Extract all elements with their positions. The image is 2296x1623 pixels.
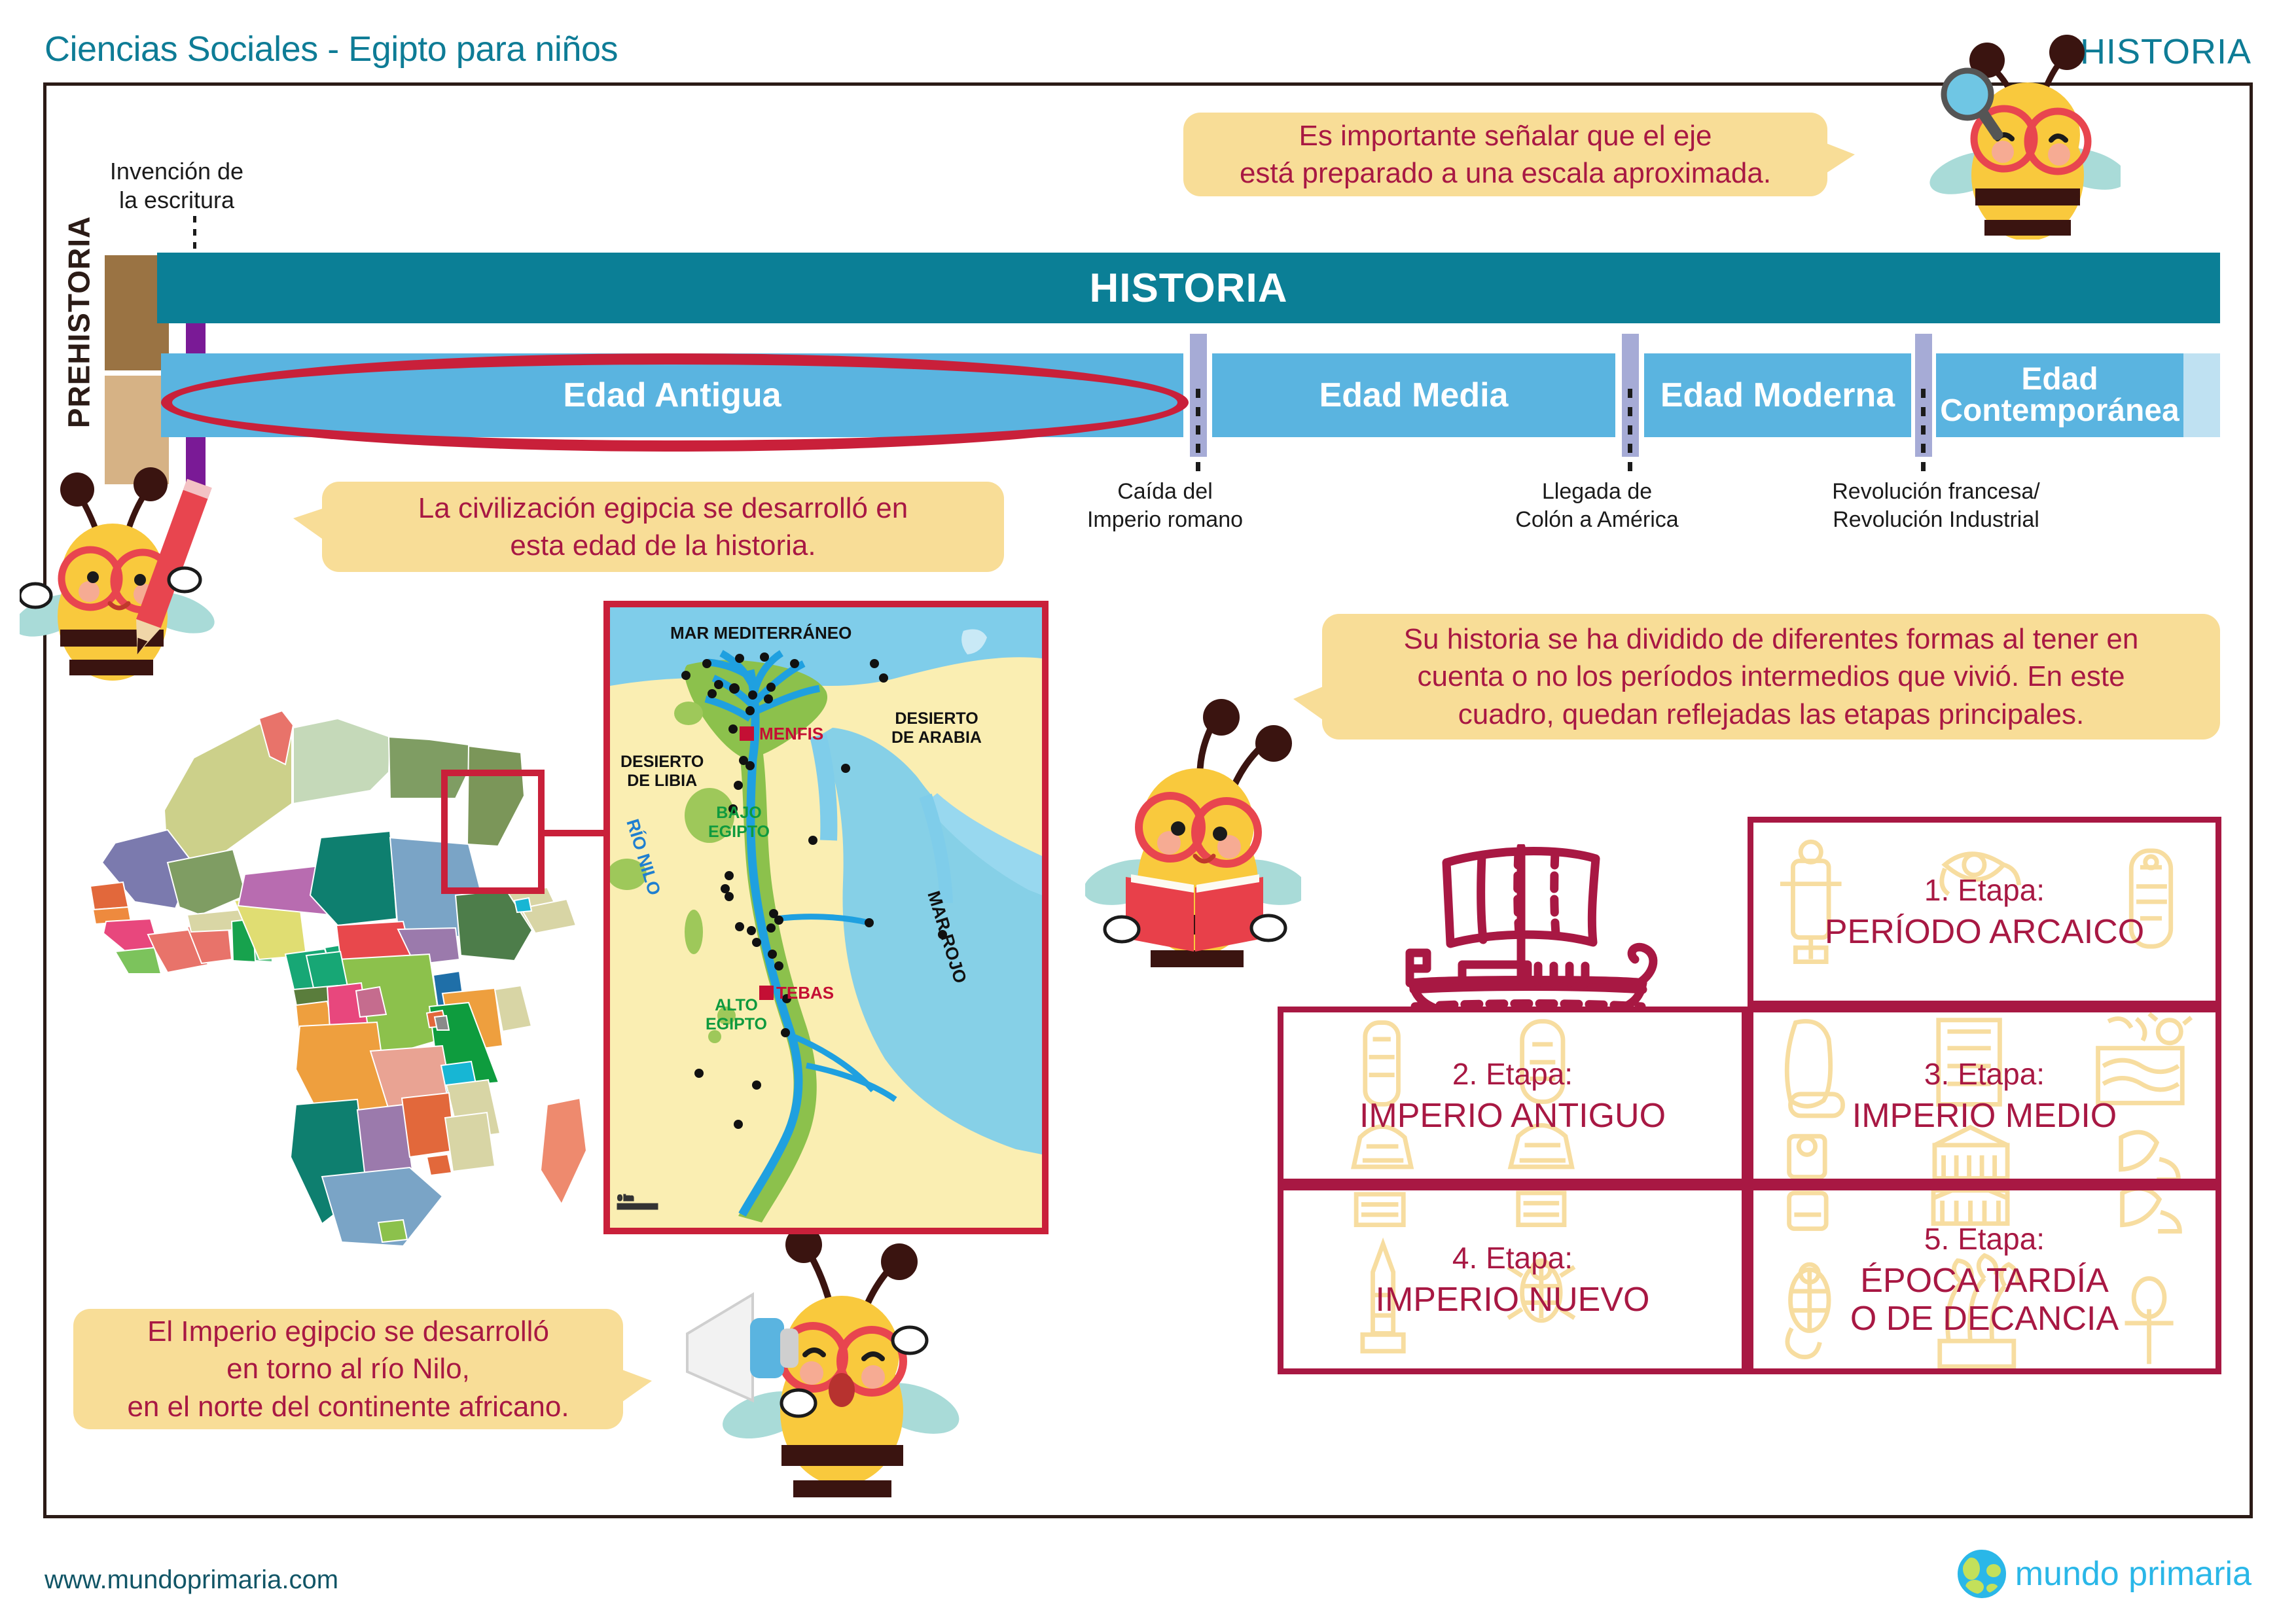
bubble-line2: esta edad de la historia. <box>418 527 908 564</box>
stage-name-line2: O DE DECANCIA <box>1850 1300 2119 1338</box>
bubble-divisions: Su historia se ha dividido de diferentes… <box>1322 614 2220 740</box>
map-label-bajo-egipto: BAJO EGIPTO <box>708 804 770 842</box>
bubble-line1: El Imperio egipcio se desarrolló <box>127 1313 569 1350</box>
era-edad-moderna: Edad Moderna <box>1644 353 1911 437</box>
bubble-line1: La civilización egipcia se desarrolló en <box>418 490 908 527</box>
stage-name-label: IMPERIO ANTIGUO <box>1359 1097 1666 1135</box>
history-bar-label: HISTORIA <box>1089 265 1287 312</box>
event-label-caida-imperio-romano: Caída del Imperio romano <box>1047 478 1283 533</box>
stage-number-label: 3. Etapa: <box>1924 1056 2045 1092</box>
bubble-tail <box>620 1369 652 1403</box>
footer-url[interactable]: www.mundoprimaria.com <box>45 1565 338 1595</box>
bubble-line2: está preparado a una escala aproximada. <box>1240 154 1771 192</box>
stage-card-2[interactable]: 2. Etapa: IMPERIO ANTIGUO <box>1278 1007 1748 1185</box>
event-line1: Caída del <box>1047 478 1283 506</box>
bee-with-megaphone-icon <box>682 1212 963 1500</box>
map-city-menfis: MENFIS <box>759 724 823 744</box>
event-label-revolucion: Revolución francesa/ Revolución Industri… <box>1788 478 2084 533</box>
bee-reading-book-icon <box>1085 686 1301 993</box>
era-future-tail <box>2183 353 2220 437</box>
map-key-tebas <box>759 986 774 1000</box>
stage-number-label: 1. Etapa: <box>1924 872 2045 908</box>
era-divider-2 <box>1622 334 1639 457</box>
map-label-arabian-desert: DESIERTO DE ARABIA <box>891 709 982 747</box>
stage-name-label: PERÍODO ARCAICO <box>1825 913 2144 951</box>
bubble-line2: en torno al río Nilo, <box>127 1350 569 1387</box>
era-edad-media: Edad Media <box>1212 353 1615 437</box>
bubble-line1: Su historia se ha dividido de diferentes… <box>1404 620 2139 658</box>
writing-event-line2: la escritura <box>79 186 275 215</box>
writing-event-connector <box>193 216 196 257</box>
stage-cell-ship-illustration <box>1278 817 1748 1007</box>
stage-number-label: 4. Etapa: <box>1452 1240 1573 1275</box>
prehistory-label: PREHISTORIA <box>58 171 99 473</box>
era-label: Edad Moderna <box>1660 378 1895 412</box>
era-divider-1 <box>1190 334 1207 457</box>
event-line2: Colón a América <box>1479 506 1715 534</box>
bubble-tail <box>293 508 325 541</box>
egypt-highlight-box <box>441 770 545 894</box>
bubble-line2: cuenta o no los períodos intermedios que… <box>1404 658 2139 695</box>
event-line1: Revolución francesa/ <box>1788 478 2084 506</box>
era-label: Edad Media <box>1319 378 1509 412</box>
bee-with-pencil-icon <box>20 452 236 687</box>
map-city-tebas: TEBAS <box>776 983 834 1003</box>
globe-icon <box>1958 1550 2006 1598</box>
history-bar: HISTORIA <box>157 253 2220 323</box>
egypt-detail-map: 0 km MAR MEDITERRÁNEO DESIERTO DE ARABIA… <box>603 601 1049 1234</box>
stage-name-label: IMPERIO MEDIO <box>1852 1097 2117 1135</box>
africa-map <box>63 699 600 1249</box>
svg-text:0 km: 0 km <box>618 1194 634 1202</box>
event-line2: Revolución Industrial <box>1788 506 2084 534</box>
bubble-scale-note: Es importante señalar que el eje está pr… <box>1183 113 1827 196</box>
stages-grid: 1. Etapa: PERÍODO ARCAICO 2. Etapa: <box>1278 817 2221 1374</box>
stage-card-3[interactable]: 3. Etapa: IMPERIO MEDIO <box>1748 1007 2221 1185</box>
stage-name-label: ÉPOCA TARDÍA O DE DECANCIA <box>1850 1262 2119 1338</box>
stage-card-5[interactable]: 5. Etapa: ÉPOCA TARDÍA O DE DECANCIA <box>1748 1185 2221 1374</box>
event-line2: Imperio romano <box>1047 506 1283 534</box>
stage-name-line1: ÉPOCA TARDÍA <box>1850 1262 2119 1300</box>
event-label-llegada-colon: Llegada de Colón a América <box>1479 478 1715 533</box>
map-label-libyan-desert: DESIERTO DE LIBIA <box>620 753 704 791</box>
era-divider-3 <box>1915 334 1932 457</box>
map-label-alto-egipto: ALTO EGIPTO <box>706 996 767 1034</box>
brand-logo[interactable]: mundo primaria <box>1958 1550 2251 1598</box>
worksheet-page: Ciencias Sociales - Egipto para niños HI… <box>0 0 2296 1623</box>
stage-card-4[interactable]: 4. Etapa: IMPERIO NUEVO <box>1278 1185 1748 1374</box>
stage-number-label: 2. Etapa: <box>1452 1056 1573 1092</box>
bubble-line1: Es importante señalar que el eje <box>1240 117 1771 154</box>
bubble-nile: El Imperio egipcio se desarrolló en torn… <box>73 1309 623 1429</box>
bee-with-magnifier-icon <box>1924 24 2121 240</box>
stage-number-label: 5. Etapa: <box>1924 1221 2045 1257</box>
bubble-egypt-age: La civilización egipcia se desarrolló en… <box>322 482 1004 572</box>
bubble-line3: en el norte del continente africano. <box>127 1388 569 1425</box>
writing-event-label: Invención de la escritura <box>79 157 275 215</box>
bubble-tail <box>1825 143 1855 174</box>
map-label-mediterranean: MAR MEDITERRÁNEO <box>670 623 852 643</box>
era-label: Edad Contemporánea <box>1936 364 2183 427</box>
event-line1: Llegada de <box>1479 478 1715 506</box>
bubble-line3: cuadro, quedan reflejadas las etapas pri… <box>1404 696 2139 733</box>
brand-logo-text: mundo primaria <box>2015 1554 2251 1594</box>
writing-event-line1: Invención de <box>79 157 275 186</box>
era-edad-contemporanea: Edad Contemporánea <box>1936 353 2183 437</box>
map-key-menfis <box>740 726 754 741</box>
stage-name-label: IMPERIO NUEVO <box>1376 1281 1650 1319</box>
prehistory-label-text: PREHISTORIA <box>61 216 96 429</box>
stage-card-1[interactable]: 1. Etapa: PERÍODO ARCAICO <box>1748 817 2221 1007</box>
edad-antigua-highlight-ellipse <box>161 353 1189 452</box>
page-title: Ciencias Sociales - Egipto para niños <box>45 29 618 69</box>
